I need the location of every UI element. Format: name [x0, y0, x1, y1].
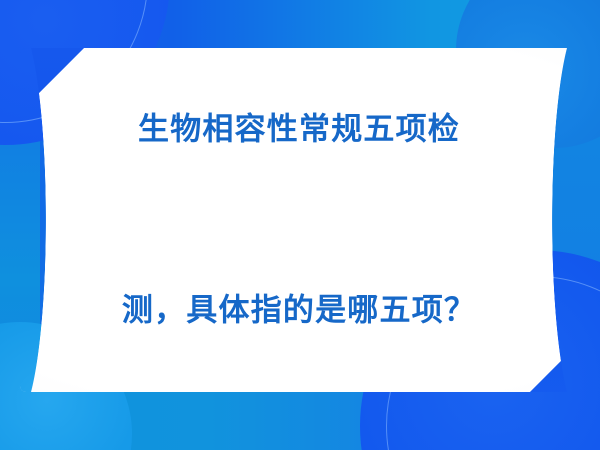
poster-banner: 生物相容性常规五项检 测，具体指的是哪五项？: [0, 0, 600, 450]
page-title: 生物相容性常规五项检 测，具体指的是哪五项？: [50, 0, 548, 450]
headline-line-1: 生物相容性常规五项检: [50, 99, 548, 159]
headline-line-2: 测，具体指的是哪五项？: [50, 280, 548, 340]
content-card: 生物相容性常规五项检 测，具体指的是哪五项？: [20, 48, 578, 392]
